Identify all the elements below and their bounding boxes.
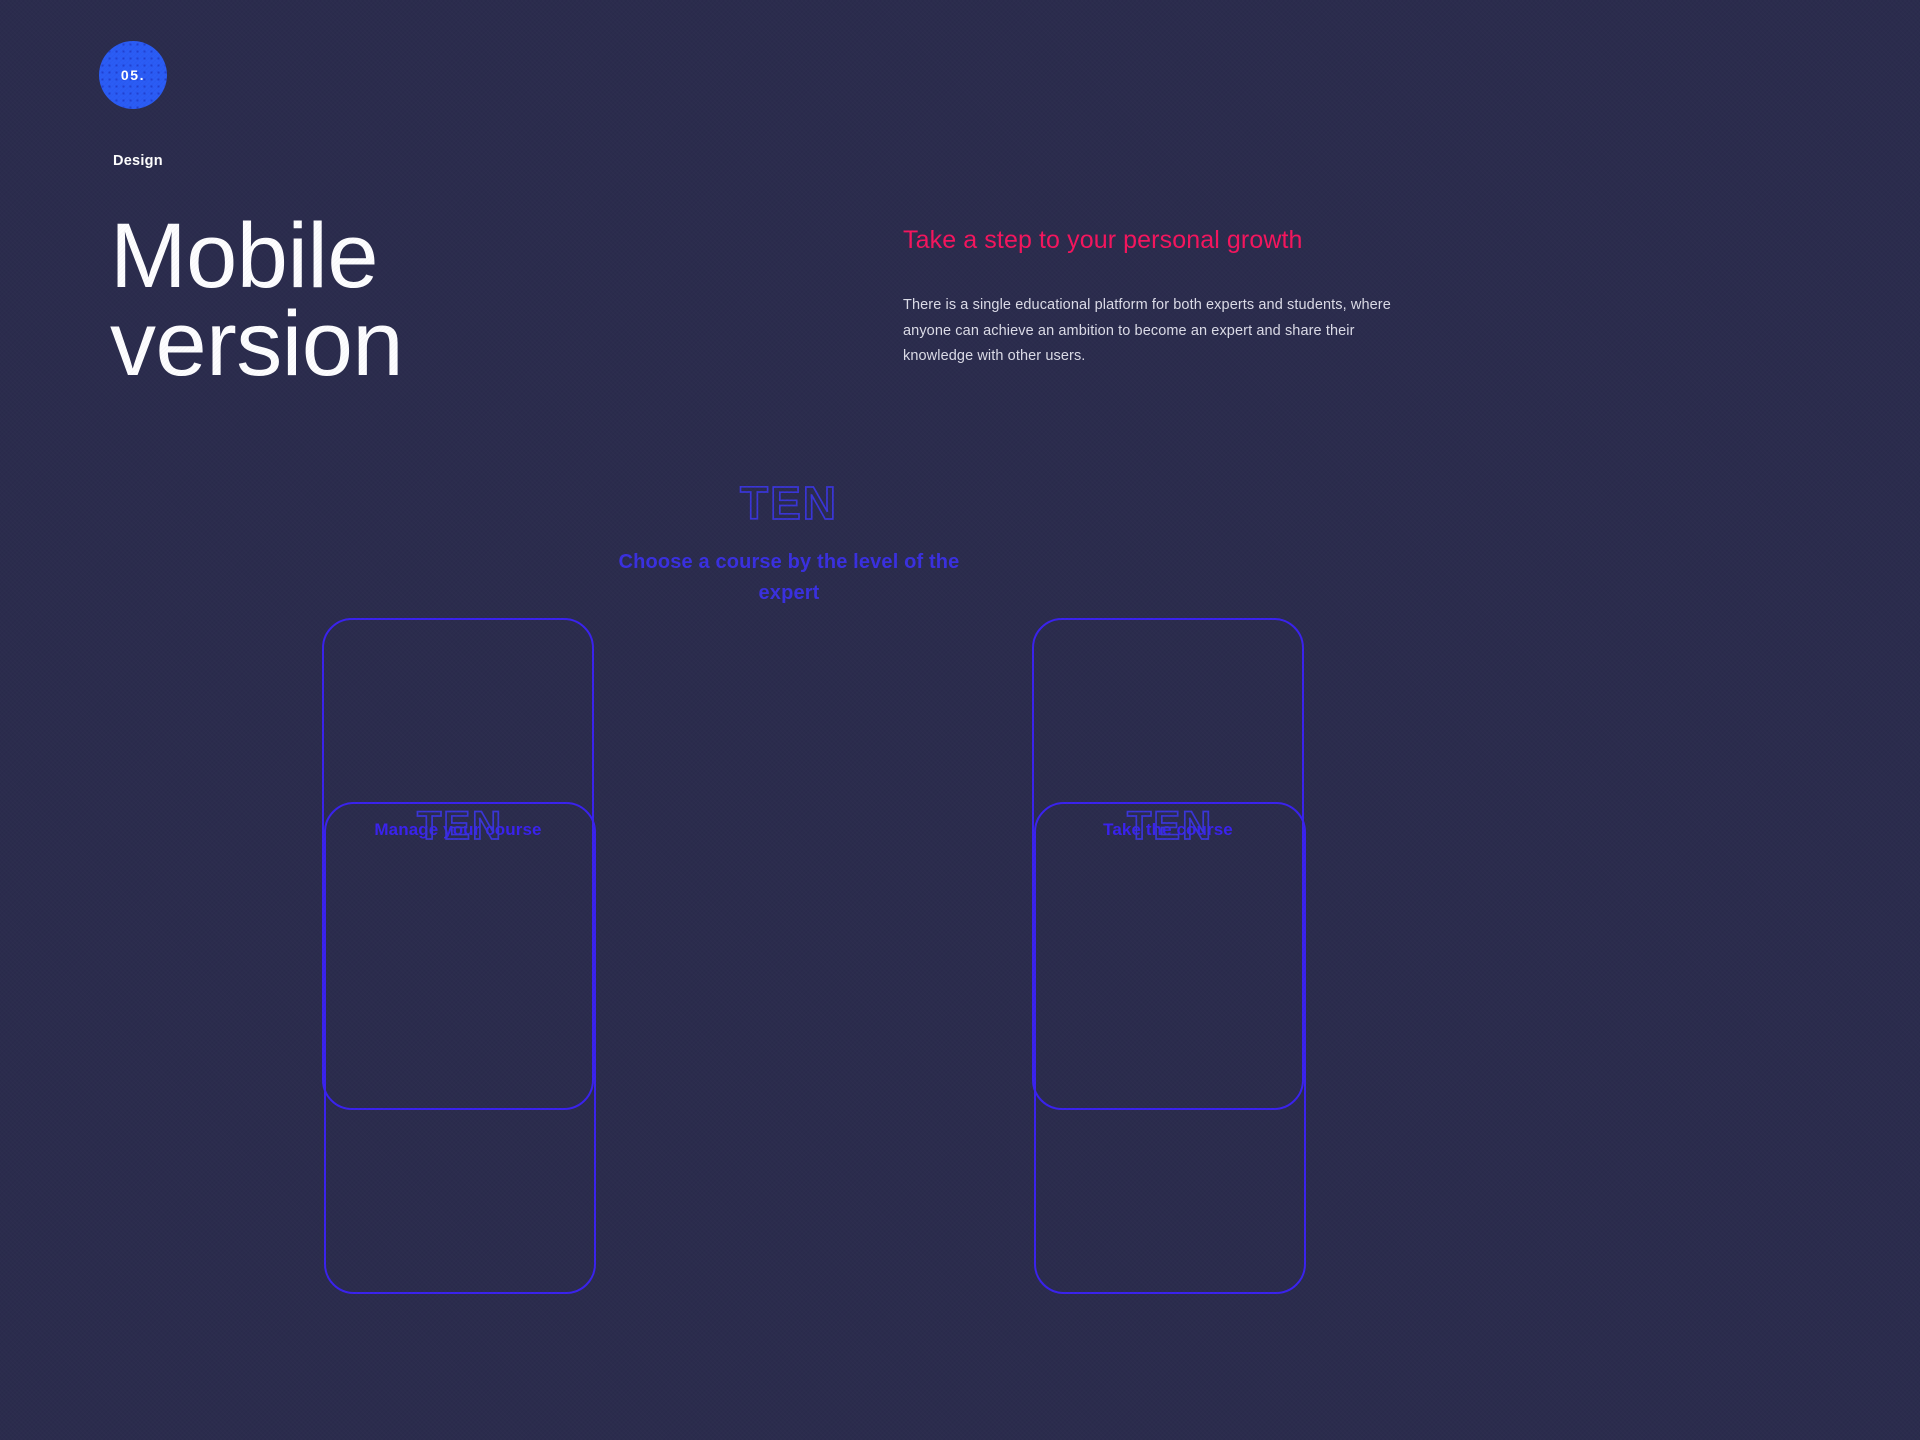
ten-logo-icon: TEN xyxy=(589,478,989,528)
section-number-badge: 05. xyxy=(99,41,167,109)
ten-logo-icon: TEN xyxy=(1034,802,1306,1294)
ten-logo-icon: TEN xyxy=(324,802,596,1294)
page-title: Mobile version xyxy=(110,212,403,388)
slide-canvas: 05. Design Mobile version Take a step to… xyxy=(0,0,1920,1440)
section-number-label: 05. xyxy=(121,67,145,83)
phone-screen-content: TEN Manage your course xyxy=(324,802,592,840)
phone-mockup-take-course[interactable]: TEN Take the course xyxy=(1032,618,1304,1110)
phone-screen-content: TEN Take the course xyxy=(1034,802,1302,840)
phone-mockup-manage-course[interactable]: TEN Manage your course xyxy=(322,618,594,1110)
center-section-caption: Choose a course by the level of the expe… xyxy=(589,547,989,609)
center-section: TEN Choose a course by the level of the … xyxy=(589,478,989,609)
intro-body: There is a single educational platform f… xyxy=(903,293,1393,370)
section-kicker: Design xyxy=(113,153,163,169)
intro-lede: Take a step to your personal growth xyxy=(903,224,1423,256)
